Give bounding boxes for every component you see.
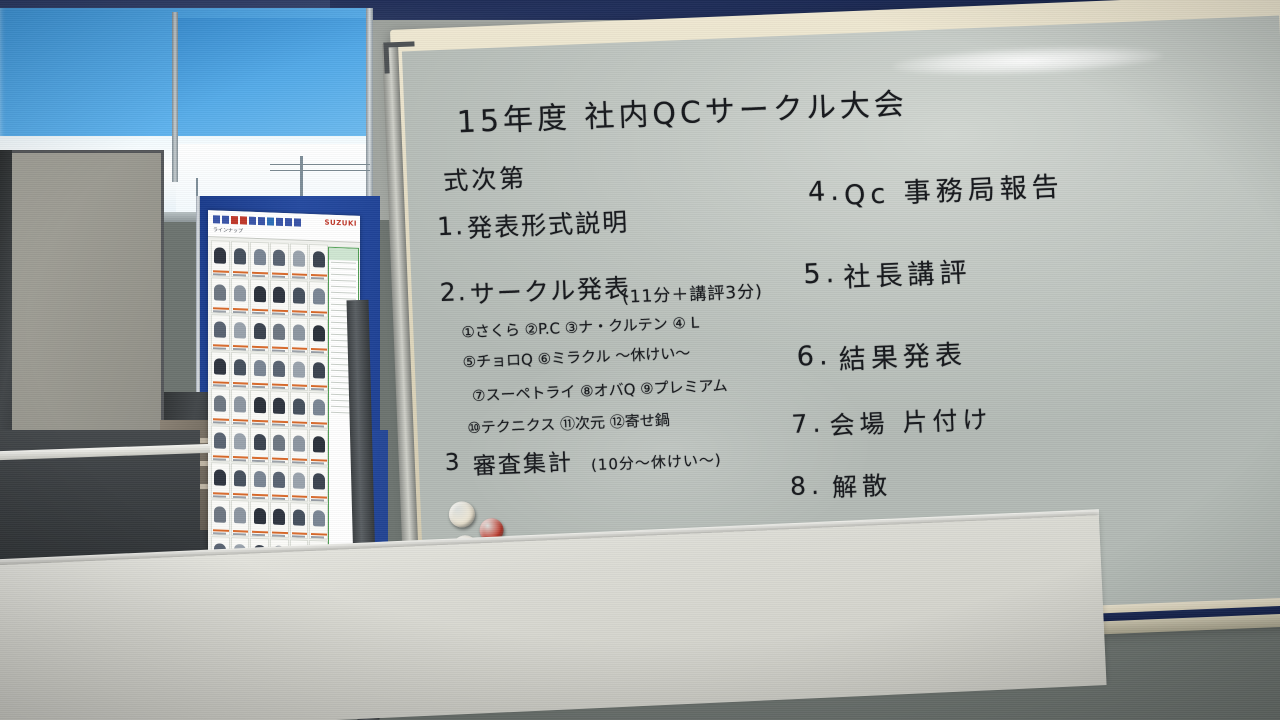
suzuki-logo: SUZUKI xyxy=(324,219,357,228)
agenda-item-7-num: 7. xyxy=(791,408,826,438)
poster-car-cell xyxy=(211,277,230,314)
poster-car-cell xyxy=(231,352,250,389)
poster-car-cell xyxy=(309,355,328,392)
light-glare xyxy=(892,42,1163,79)
agenda-item-6-num: 6. xyxy=(796,340,833,372)
board-title: 15年度 社内QCサークル大会 xyxy=(456,79,909,141)
poster-car-cell xyxy=(211,314,230,351)
agenda-item-2-note: (11分＋講評3分) xyxy=(622,277,764,308)
poster-car-cell xyxy=(270,279,289,316)
poster-car-cell xyxy=(309,244,328,281)
poster-car-cell xyxy=(290,465,309,502)
power-line xyxy=(270,164,370,165)
poster-car-cell xyxy=(211,240,230,277)
poster-car-cell xyxy=(250,279,269,316)
poster-car-cell xyxy=(211,388,230,425)
window-mullion xyxy=(172,12,178,182)
suzuki-lineup-poster: SUZUKI ラインナップ xyxy=(208,210,360,598)
poster-car-cell xyxy=(290,428,309,465)
poster-car-cell xyxy=(290,280,309,317)
poster-car-cell xyxy=(231,463,250,500)
poster-spec-header xyxy=(329,248,358,261)
poster-car-cell xyxy=(290,243,309,280)
poster-car-cell xyxy=(270,427,289,464)
poster-car-cell xyxy=(211,462,230,499)
board-subtitle: 式次第 xyxy=(442,159,527,198)
poster-car-cell xyxy=(290,391,309,428)
poster-car-cell xyxy=(309,429,328,466)
poster-car-cell xyxy=(270,353,289,390)
agenda-item-2-num: 2. xyxy=(439,277,468,307)
poster-car-cell xyxy=(309,392,328,429)
poster-car-cell xyxy=(211,499,230,536)
agenda-item-4-text: Qc 事務局報告 xyxy=(843,165,1064,213)
poster-car-cell xyxy=(250,242,269,279)
agenda-item-7-text: 会場 片付け xyxy=(829,400,993,443)
agenda-item-3-text: 審査集計 xyxy=(472,443,573,481)
window-frame-right xyxy=(366,8,373,218)
poster-car-cell xyxy=(250,501,269,538)
agenda-item-1-text: 発表形式説明 xyxy=(466,202,629,245)
poster-car-cell xyxy=(231,389,250,426)
poster-car-cell xyxy=(309,281,328,318)
agenda-item-1-num: 1. xyxy=(437,211,466,241)
poster-car-grid xyxy=(211,240,328,592)
poster-car-cell xyxy=(250,390,269,427)
poster-car-cell xyxy=(250,316,269,353)
poster-car-cell xyxy=(270,390,289,427)
poster-car-cell xyxy=(309,466,328,503)
poster-car-cell xyxy=(270,501,289,538)
agenda-item-4-num: 4. xyxy=(807,176,844,208)
poster-car-cell xyxy=(309,318,328,355)
power-line xyxy=(270,170,370,171)
agenda-item-8-num: 8. xyxy=(789,471,824,501)
agenda-item-8-text: 解散 xyxy=(831,466,892,504)
agenda-item-5-num: 5. xyxy=(803,258,840,290)
poster-tagline: ラインナップ xyxy=(213,226,243,234)
poster-car-cell xyxy=(270,316,289,353)
poster-car-cell xyxy=(250,464,269,501)
agenda-item-6-text: 結果発表 xyxy=(838,333,967,377)
poster-car-cell xyxy=(290,502,309,539)
poster-car-cell xyxy=(231,426,250,463)
poster-car-cell xyxy=(270,242,289,279)
poster-color-swatches xyxy=(213,215,301,226)
poster-car-cell xyxy=(250,427,269,464)
whiteboard-corner-bracket xyxy=(383,41,415,73)
poster-car-cell xyxy=(290,317,309,354)
poster-car-cell xyxy=(231,241,250,278)
poster-car-cell xyxy=(231,278,250,315)
poster-car-cell xyxy=(250,353,269,390)
poster-car-cell xyxy=(290,354,309,391)
poster-car-cell xyxy=(211,351,230,388)
photo-scene: SUZUKI ラインナップ 15年度 社内QCサークル大会 式次第 1. 発表形… xyxy=(0,0,1280,720)
poster-car-cell xyxy=(231,500,250,537)
agenda-item-3-num: 3 xyxy=(444,449,462,476)
agenda-item-5-text: 社長講評 xyxy=(843,250,972,294)
poster-car-cell xyxy=(231,315,250,352)
poster-header: SUZUKI ラインナップ xyxy=(208,210,360,243)
poster-car-cell xyxy=(211,425,230,462)
agenda-item-2-text: サークル発表 xyxy=(469,268,632,311)
poster-car-cell xyxy=(270,464,289,501)
poster-car-cell xyxy=(309,503,328,540)
circle-list-row-1: ①さくら ②P.C ③ナ・クルテン ④ L xyxy=(461,312,699,343)
